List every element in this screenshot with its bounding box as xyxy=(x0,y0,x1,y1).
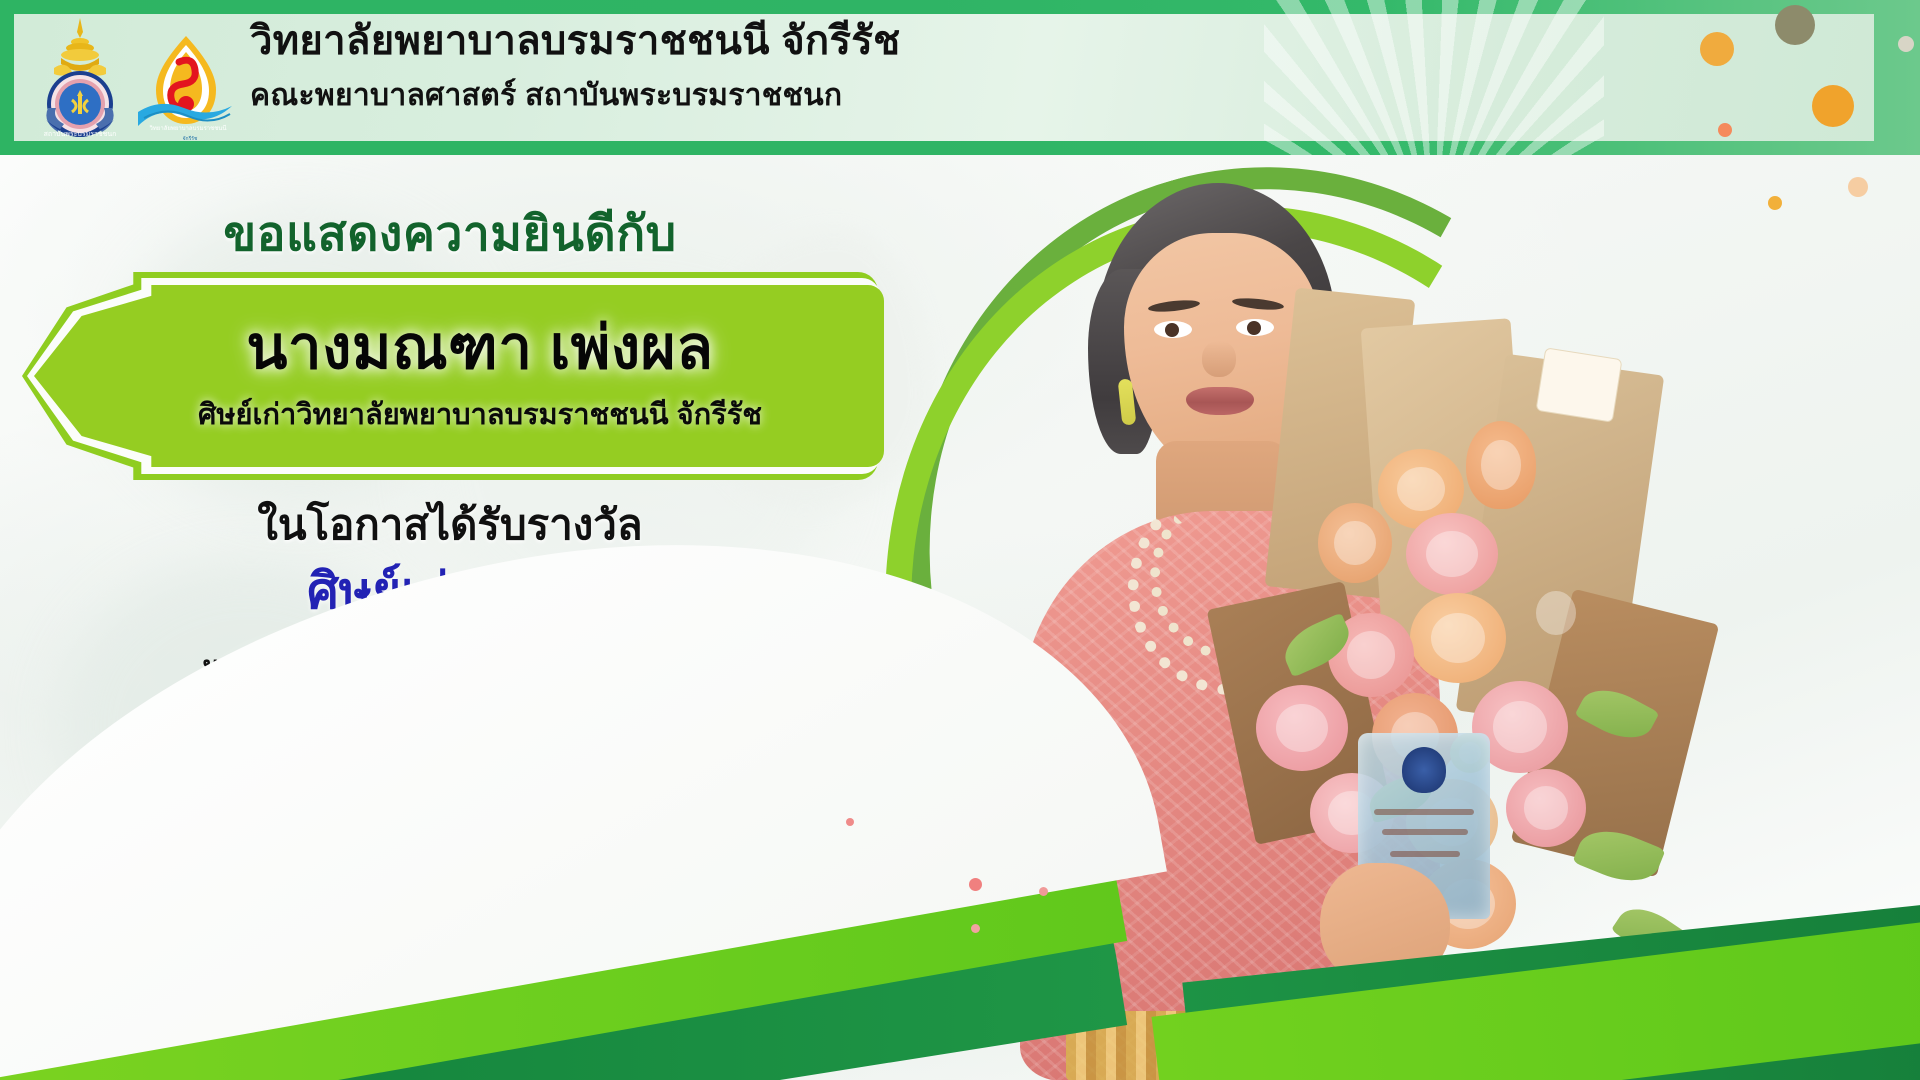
honoree-affiliation: ศิษย์เก่าวิทยาลัยพยาบาลบรมราชชนนี จักรีร… xyxy=(198,391,762,437)
svg-text:จักรีรัช: จักรีรัช xyxy=(183,135,198,142)
pink-dot-icon xyxy=(969,878,982,891)
svg-text:สถาบันพระบรมราชชนก: สถาบันพระบรมราชชนก xyxy=(44,130,117,138)
honoree-name-plate: นางมณฑา เพ่งผล ศิษย์เก่าวิทยาลัยพยาบาลบร… xyxy=(22,272,878,480)
honoree-name: นางมณฑา เพ่งผล xyxy=(246,315,713,381)
coral-dot-icon xyxy=(1718,123,1732,137)
royal-seal-logo: สถาบันพระบรมราชชนก xyxy=(28,16,132,142)
lips xyxy=(1186,387,1254,415)
trophy-text-line xyxy=(1374,809,1474,815)
flower xyxy=(1406,513,1498,595)
pale-dot-icon xyxy=(1898,36,1914,52)
banner-canvas: สถาบันพระบรมราชชนก วิทยาลัยพยาบาลบรมราชช… xyxy=(0,0,1920,1080)
congratulation-heading: ขอแสดงความยินดีกับ xyxy=(0,196,900,272)
praboromarajchanok-torch-logo: วิทยาลัยพยาบาลบรมราชชนนี จักรีรัช xyxy=(134,32,238,144)
flower xyxy=(1520,573,1592,653)
pink-dot-icon xyxy=(971,924,980,933)
plate-text-group: นางมณฑา เพ่งผล ศิษย์เก่าวิทยาลัยพยาบาลบร… xyxy=(82,272,878,480)
header-bar: สถาบันพระบรมราชชนก วิทยาลัยพยาบาลบรมราชช… xyxy=(0,0,1920,155)
bouquet-card xyxy=(1535,347,1622,422)
logo-group: สถาบันพระบรมราชชนก วิทยาลัยพยาบาลบรมราชช… xyxy=(22,12,244,144)
svg-text:วิทยาลัยพยาบาลบรมราชชนนี: วิทยาลัยพยาบาลบรมราชชนนี xyxy=(149,124,227,132)
institution-title: วิทยาลัยพยาบาลบรมราชชนนี จักรีรัช xyxy=(250,16,1430,66)
flower xyxy=(1506,769,1586,847)
flower xyxy=(1256,685,1348,771)
header-titles: วิทยาลัยพยาบาลบรมราชชนนี จักรีรัช คณะพยา… xyxy=(250,16,1430,117)
trophy-text-line xyxy=(1390,851,1460,857)
award-lead-text: ในโอกาสได้รับรางวัล xyxy=(0,492,900,558)
eye-left xyxy=(1154,321,1192,338)
pink-dot-icon xyxy=(846,818,854,826)
eye-right xyxy=(1236,319,1274,336)
pink-dot-icon xyxy=(1039,887,1048,896)
faculty-subtitle: คณะพยาบาลศาสตร์ สถาบันพระบรมราชชนก xyxy=(250,76,1430,117)
flower xyxy=(1318,503,1392,583)
trophy-text-line xyxy=(1382,829,1468,835)
trophy-emblem xyxy=(1402,747,1446,793)
amber-dot-icon xyxy=(1700,32,1734,66)
amber-large-dot-icon xyxy=(1812,85,1854,127)
olive-dot-icon xyxy=(1775,5,1815,45)
nose xyxy=(1202,341,1236,377)
flower xyxy=(1410,593,1506,683)
flower xyxy=(1466,421,1536,509)
